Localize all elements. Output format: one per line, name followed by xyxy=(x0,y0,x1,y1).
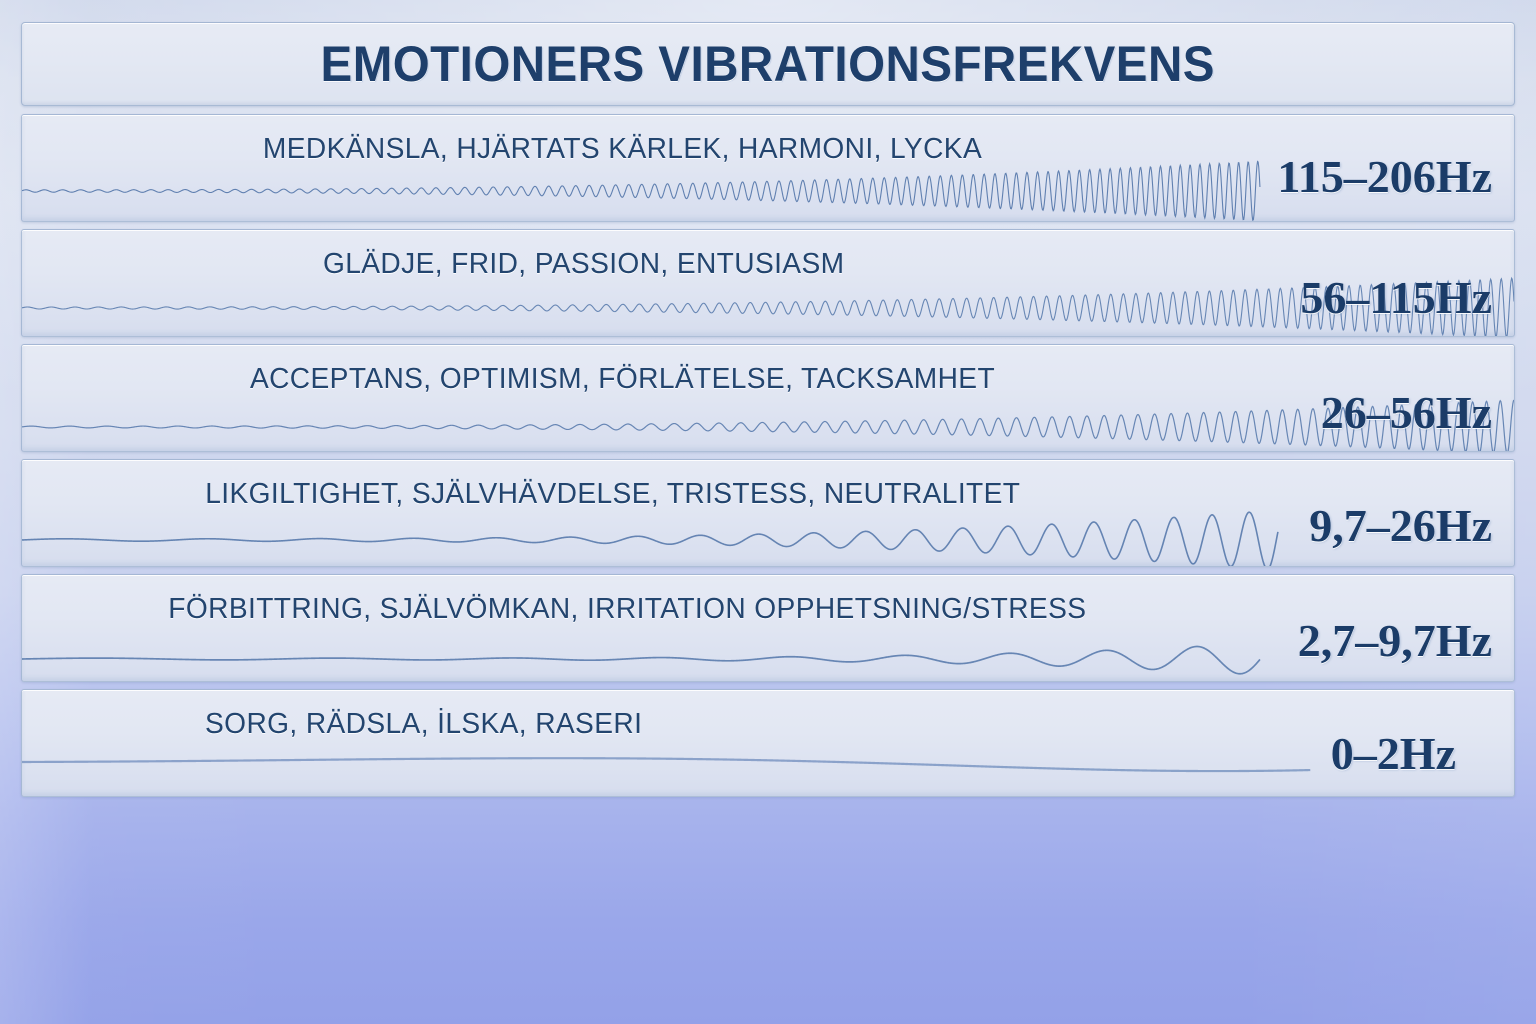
table-row[interactable]: ACCEPTANS, OPTIMISM, FÖRLÄTELSE, TACKSAM… xyxy=(21,344,1515,452)
waveform-row-5 xyxy=(22,574,1514,681)
waveform-row-3 xyxy=(22,344,1514,451)
row-label: SORG, RÄDSLA, İLSKA, RASERI xyxy=(44,708,1491,741)
frequency-chart-board: EMOTIONERS VIBRATIONSFREKVENS MEDKÄNSLA,… xyxy=(21,22,1515,806)
waveform-row-2 xyxy=(22,229,1514,336)
row-label: ACCEPTANS, OPTIMISM, FÖRLÄTELSE, TACKSAM… xyxy=(44,363,1491,396)
waveform-row-4 xyxy=(22,459,1514,566)
page-title: EMOTIONERS VIBRATIONSFREKVENS xyxy=(321,35,1215,93)
row-frequency: 0–2Hz xyxy=(1331,727,1456,780)
title-panel: EMOTIONERS VIBRATIONSFREKVENS xyxy=(21,22,1515,106)
row-label: GLÄDJE, FRID, PASSION, ENTUSIASM xyxy=(44,248,1491,281)
table-row[interactable]: GLÄDJE, FRID, PASSION, ENTUSIASM 56–115H… xyxy=(21,229,1515,337)
row-frequency: 2,7–9,7Hz xyxy=(1298,614,1492,667)
row-frequency: 9,7–26Hz xyxy=(1309,499,1492,552)
row-label: LIKGILTIGHET, SJÄLVHÄVDELSE, TRISTESS, N… xyxy=(44,478,1491,511)
table-row[interactable]: SORG, RÄDSLA, İLSKA, RASERI 0–2Hz xyxy=(21,689,1515,797)
row-frequency: 26–56Hz xyxy=(1321,386,1492,439)
row-frequency: 115–206Hz xyxy=(1277,150,1492,203)
table-row[interactable]: FÖRBITTRING, SJÄLVÖMKAN, IRRITATION OPPH… xyxy=(21,574,1515,682)
table-row[interactable]: LIKGILTIGHET, SJÄLVHÄVDELSE, TRISTESS, N… xyxy=(21,459,1515,567)
table-row[interactable]: MEDKÄNSLA, HJÄRTATS KÄRLEK, HARMONI, LYC… xyxy=(21,114,1515,222)
waveform-row-6 xyxy=(22,689,1514,796)
frequency-row-list: MEDKÄNSLA, HJÄRTATS KÄRLEK, HARMONI, LYC… xyxy=(21,114,1515,797)
row-frequency: 56–115Hz xyxy=(1300,271,1492,324)
row-label: FÖRBITTRING, SJÄLVÖMKAN, IRRITATION OPPH… xyxy=(44,593,1491,626)
row-label: MEDKÄNSLA, HJÄRTATS KÄRLEK, HARMONI, LYC… xyxy=(44,133,1491,166)
